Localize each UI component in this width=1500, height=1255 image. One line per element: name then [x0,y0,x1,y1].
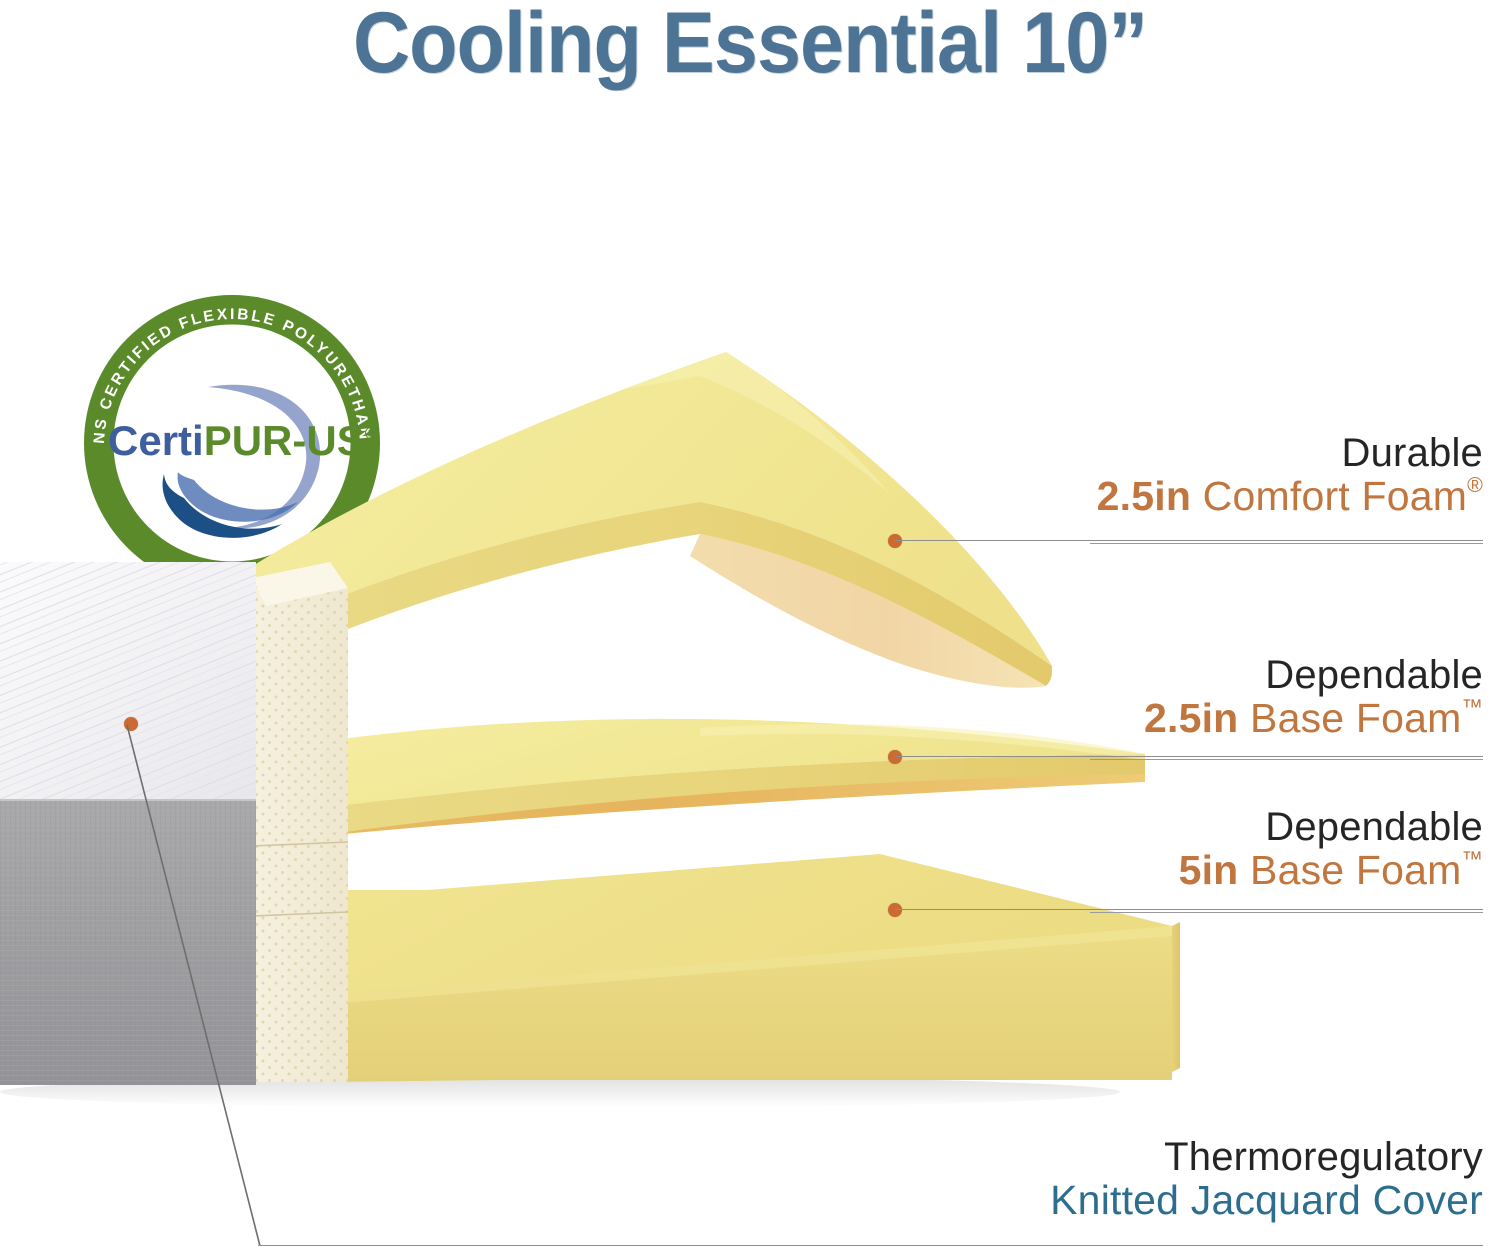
marker-dot-comfort-foam [888,534,902,548]
leader-line-base-foam-2-5 [895,756,1483,757]
marker-dot-base-foam-5 [888,903,902,917]
callout-comfort-foam: Durable 2.5in Comfort Foam® [1063,432,1483,520]
callout-eyebrow: Dependable [1063,654,1483,696]
callout-label: Knitted Jacquard Cover [1023,1178,1483,1224]
callout-eyebrow: Dependable [1063,806,1483,848]
page-title: Cooling Essential 10” [60,0,1440,93]
callout-base-foam-5: Dependable 5in Base Foam™ [1063,806,1483,894]
leader-line-comfort-foam [895,540,1483,541]
callout-superscript: ™ [1461,695,1483,719]
callout-text: Base Foam [1238,848,1461,894]
rule-comfort-foam [1090,543,1483,544]
leader-line-cover-horizontal [258,1245,1483,1246]
rule-base-foam-2-5 [1090,759,1483,760]
callout-text: Comfort Foam [1191,474,1467,520]
callout-label: 2.5in Comfort Foam® [1063,474,1483,520]
leader-line-cover-diagonal [120,718,290,1250]
marker-dot-base-foam-2-5 [888,750,902,764]
callout-measure: 5in [1179,848,1239,894]
callout-text: Base Foam [1238,696,1461,742]
callout-label: 5in Base Foam™ [1063,848,1483,894]
callout-text: Knitted Jacquard Cover [1050,1177,1483,1223]
callout-measure: 2.5in [1097,474,1191,520]
callout-label: 2.5in Base Foam™ [1063,696,1483,742]
callout-superscript: ® [1467,473,1483,497]
rule-base-foam-5 [1090,912,1483,913]
leader-line-base-foam-5 [895,909,1483,910]
callout-jacquard-cover: Thermoregulatory Knitted Jacquard Cover [1023,1136,1483,1224]
callout-superscript: ™ [1461,847,1483,871]
callout-measure: 2.5in [1144,696,1238,742]
callout-eyebrow: Durable [1063,432,1483,474]
callout-eyebrow: Thermoregulatory [1023,1136,1483,1178]
callout-base-foam-2-5: Dependable 2.5in Base Foam™ [1063,654,1483,742]
